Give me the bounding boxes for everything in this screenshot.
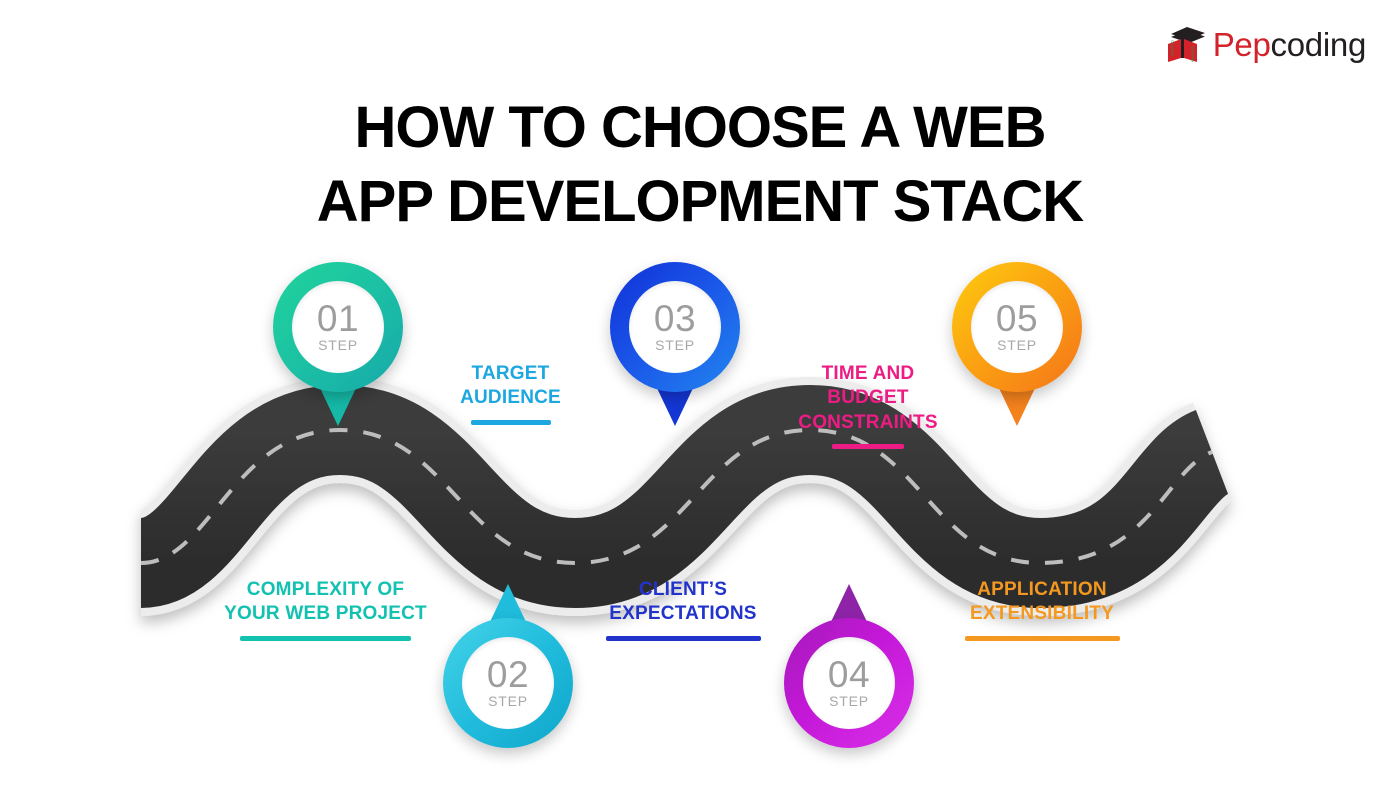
caption-complexity-underline xyxy=(240,636,411,641)
caption-application-extensibility-line-2: EXTENSIBILITY xyxy=(970,603,1114,624)
caption-clients-expectations: CLIENT’S EXPECTATIONS xyxy=(583,578,783,641)
road-edge xyxy=(141,430,1212,563)
step-marker-03-pin-tail xyxy=(656,386,694,426)
step-word-03: STEP xyxy=(655,337,695,353)
step-marker-05[interactable]: 05 STEP xyxy=(952,262,1082,392)
caption-time-and-budget-line-2: BUDGET xyxy=(827,387,908,408)
step-marker-05-pin-tail xyxy=(998,386,1036,426)
brand-name-pep: Pep xyxy=(1213,26,1271,63)
page-title-line-2: APP DEVELOPMENT STACK xyxy=(140,165,1260,239)
step-marker-04-inner: 04 STEP xyxy=(803,637,895,729)
step-marker-03-inner: 03 STEP xyxy=(629,281,721,373)
caption-time-and-budget-constraints: TIME AND BUDGET CONSTRAINTS xyxy=(770,362,966,449)
road-surface xyxy=(141,430,1212,563)
road-center-dashes xyxy=(141,430,1212,563)
svg-text:CODING: CODING xyxy=(1190,46,1195,62)
step-marker-02-inner: 02 STEP xyxy=(462,637,554,729)
caption-complexity-line-1: COMPLEXITY OF xyxy=(247,579,404,600)
step-marker-02[interactable]: 02 STEP xyxy=(443,618,573,748)
step-number-05: 05 xyxy=(996,301,1038,336)
step-marker-04[interactable]: 04 STEP xyxy=(784,618,914,748)
caption-application-extensibility: APPLICATION EXTENSIBILITY xyxy=(942,578,1142,641)
caption-application-extensibility-underline xyxy=(965,636,1120,641)
step-number-04: 04 xyxy=(828,657,870,692)
caption-application-extensibility-line-1: APPLICATION xyxy=(977,579,1107,600)
step-number-02: 02 xyxy=(487,657,529,692)
step-marker-01-inner: 01 STEP xyxy=(292,281,384,373)
caption-time-and-budget-line-3: CONSTRAINTS xyxy=(798,412,937,433)
caption-complexity-line-2: YOUR WEB PROJECT xyxy=(224,603,427,624)
caption-clients-expectations-line-2: EXPECTATIONS xyxy=(609,603,756,624)
caption-target-audience: TARGET AUDIENCE xyxy=(423,362,598,425)
page-title-line-1: HOW TO CHOOSE A WEB xyxy=(140,91,1260,165)
caption-clients-expectations-line-1: CLIENT’S xyxy=(639,579,727,600)
caption-target-audience-underline xyxy=(471,420,551,425)
caption-target-audience-line-1: TARGET xyxy=(472,363,550,384)
step-marker-01-pin-tail xyxy=(319,386,357,426)
step-word-02: STEP xyxy=(488,693,528,709)
brand-logo: CODING CODING Pepcoding xyxy=(1165,24,1366,64)
step-word-05: STEP xyxy=(997,337,1037,353)
step-marker-05-inner: 05 STEP xyxy=(971,281,1063,373)
page-title: HOW TO CHOOSE A WEB APP DEVELOPMENT STAC… xyxy=(0,91,1400,239)
brand-name-coding: coding xyxy=(1271,26,1366,63)
caption-time-and-budget-underline xyxy=(832,444,904,449)
brand-wordmark: Pepcoding xyxy=(1213,28,1366,61)
caption-complexity-of-your-web-project: COMPLEXITY OF YOUR WEB PROJECT xyxy=(197,578,454,641)
svg-text:CODING: CODING xyxy=(1169,40,1174,56)
step-word-01: STEP xyxy=(318,337,358,353)
caption-clients-expectations-underline xyxy=(606,636,761,641)
step-word-04: STEP xyxy=(829,693,869,709)
caption-target-audience-line-2: AUDIENCE xyxy=(460,387,561,408)
step-number-03: 03 xyxy=(654,301,696,336)
step-marker-03[interactable]: 03 STEP xyxy=(610,262,740,392)
step-number-01: 01 xyxy=(317,301,359,336)
caption-time-and-budget-line-1: TIME AND xyxy=(822,363,915,384)
pepcoding-cube-logo-icon: CODING CODING xyxy=(1165,24,1209,64)
step-marker-01[interactable]: 01 STEP xyxy=(273,262,403,392)
